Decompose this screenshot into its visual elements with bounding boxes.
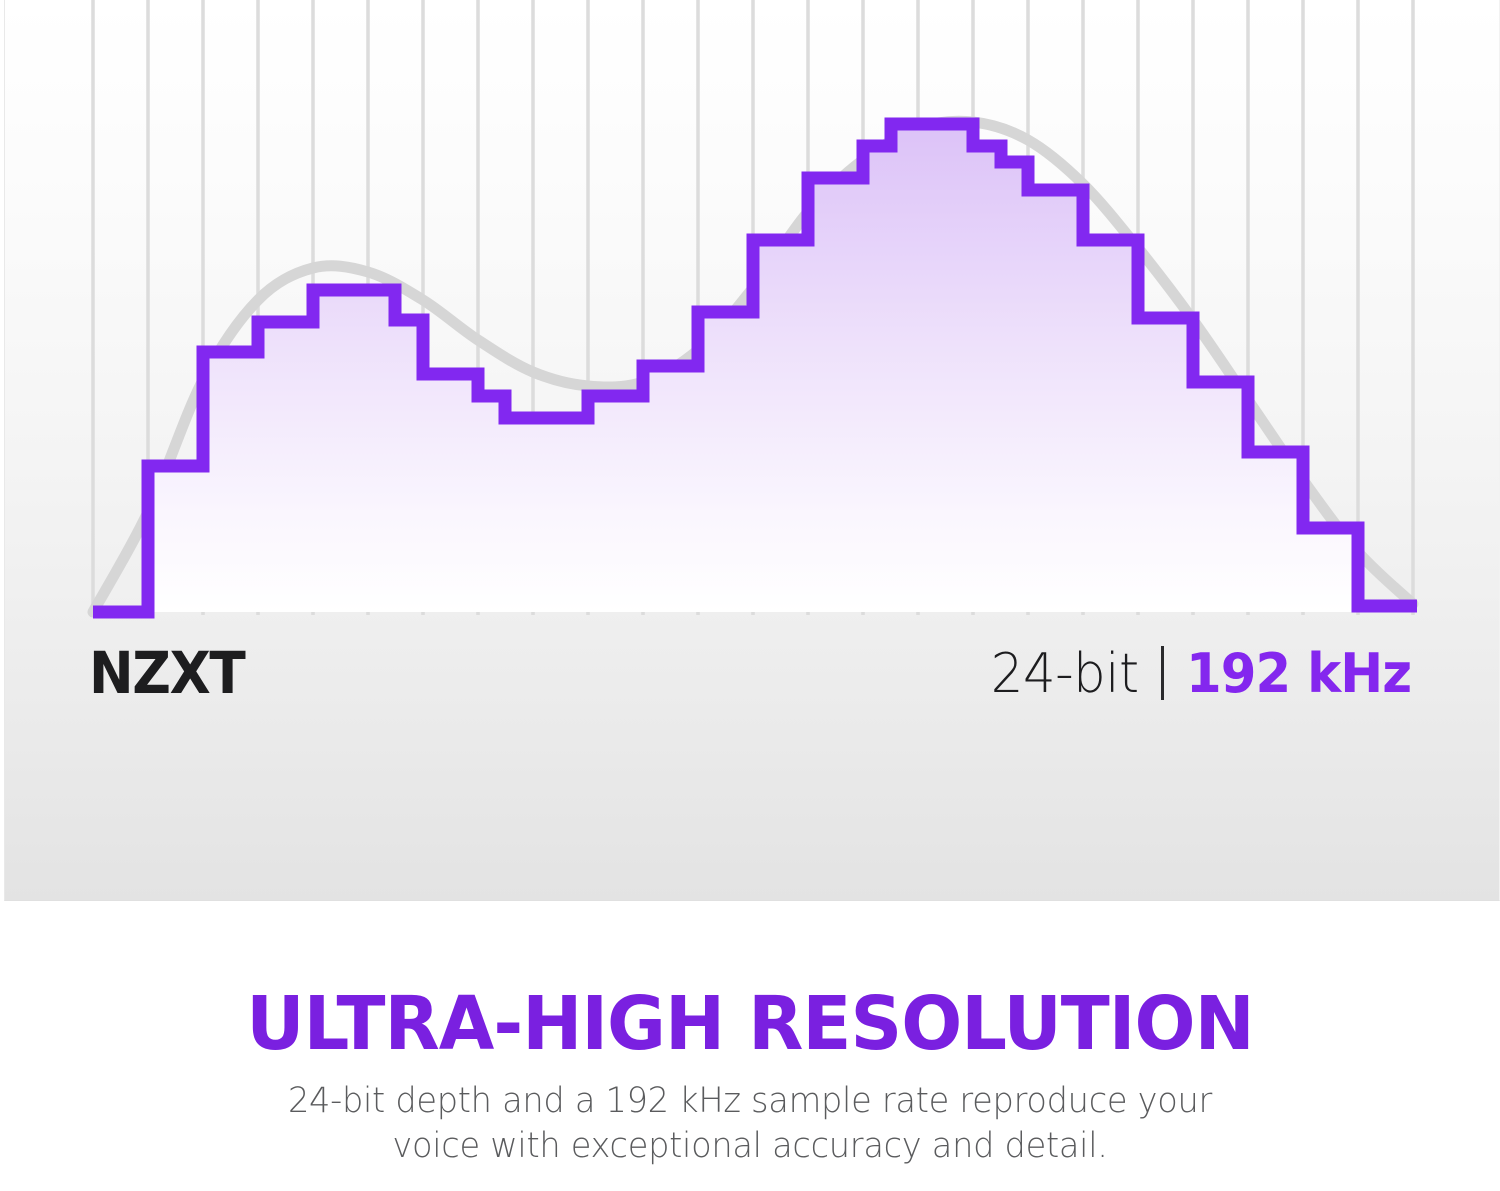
feature-subtitle-line-1: 24-bit depth and a 192 kHz sample rate r…: [30, 1079, 1470, 1124]
sample-rate-label: 192 kHz: [1186, 642, 1411, 705]
feature-subtitle: 24-bit depth and a 192 kHz sample rate r…: [30, 1063, 1470, 1169]
chart-caption-row: NZXT 24-bit 192 kHz: [5, 636, 1500, 718]
spec-divider-icon: [1161, 646, 1164, 700]
nzxt-brand-logo: NZXT: [89, 636, 244, 710]
waveform-chart: [5, 0, 1500, 901]
feature-headline: ULTRA-HIGH RESOLUTION: [23, 901, 1478, 1063]
feature-text-block: ULTRA-HIGH RESOLUTION 24-bit depth and a…: [0, 901, 1500, 1191]
audio-spec-row: 24-bit 192 kHz: [983, 636, 1423, 710]
feature-subtitle-line-2: voice with exceptional accuracy and deta…: [30, 1124, 1470, 1169]
digital-waveform-fill: [93, 124, 1417, 612]
bit-depth-label: 24-bit: [991, 642, 1139, 705]
waveform-panel: NZXT 24-bit 192 kHz: [4, 0, 1500, 901]
